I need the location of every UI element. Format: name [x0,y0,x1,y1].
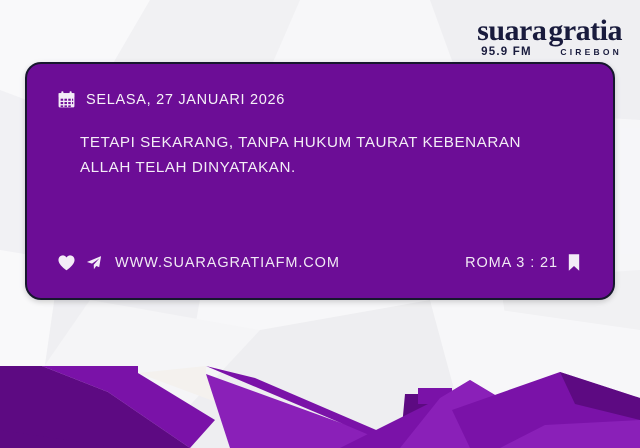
card-footer: WWW.SUARAGRATIAFM.COM ROMA 3 : 21 [57,253,583,278]
verse-card: SELASA, 27 JANUARI 2026 TETAPI SEKARANG,… [25,62,615,300]
paper-plane-icon [85,254,103,271]
brand-wordmark: suaragratia [477,16,622,46]
website-group[interactable]: WWW.SUARAGRATIAFM.COM [57,254,340,271]
brand-subtitle-row: 95.9 FM CIREBON [477,47,622,59]
verse-reference: ROMA 3 : 21 [465,255,558,271]
date-row: SELASA, 27 JANUARI 2026 [57,90,583,109]
website-url[interactable]: WWW.SUARAGRATIAFM.COM [115,255,340,271]
brand-word-gratia: gratia [548,14,622,47]
verse-text: TETAPI SEKARANG, TANPA HUKUM TAURAT KEBE… [57,131,583,180]
bookmark-icon [567,253,581,272]
brand-word-suara: suara [477,14,546,47]
brand-frequency: 95.9 FM [481,47,532,59]
brand-logo: suaragratia 95.9 FM CIREBON [477,16,622,59]
verse-reference-group: ROMA 3 : 21 [465,253,583,272]
heart-icon [57,254,76,271]
calendar-icon [57,90,76,109]
brand-city: CIREBON [560,48,622,57]
date-label: SELASA, 27 JANUARI 2026 [86,92,285,108]
